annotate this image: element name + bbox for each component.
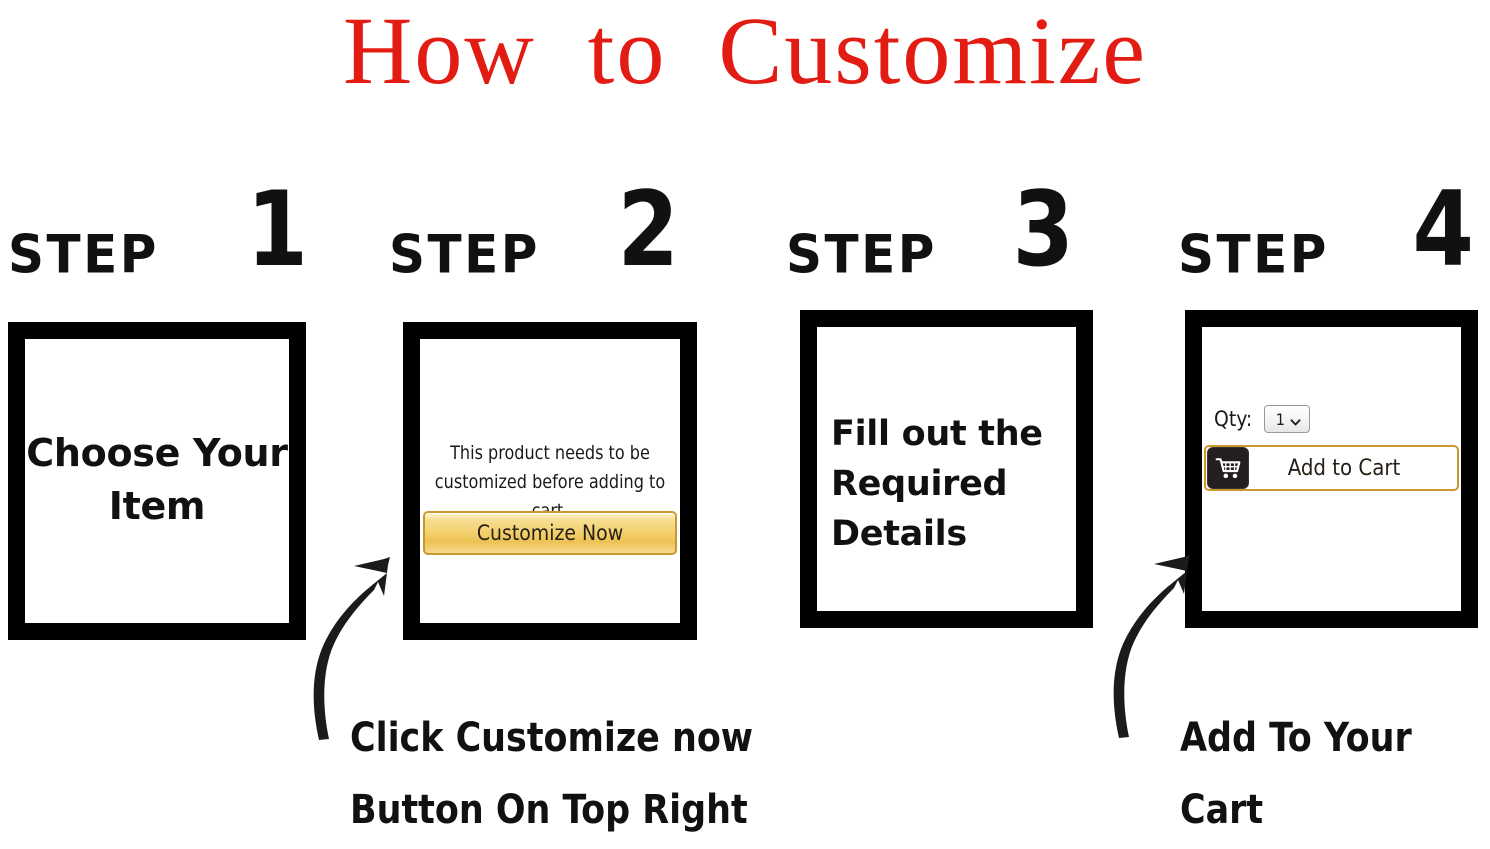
- step-number-2: 2: [618, 179, 679, 282]
- step-header-2: STEP 2: [389, 186, 679, 282]
- qty-label: Qty:: [1214, 407, 1252, 431]
- shopping-cart-icon: [1207, 447, 1249, 489]
- caption-step-4: Add To Your Cart: [1180, 702, 1412, 846]
- step-3-heading: Fill out the Required Details: [817, 409, 1076, 559]
- page-title: How to Customize: [0, 0, 1490, 106]
- qty-row: Qty: 1: [1214, 405, 1310, 433]
- add-to-cart-button[interactable]: Add to Cart: [1204, 445, 1459, 491]
- qty-value: 1: [1276, 410, 1285, 429]
- step-header-4: STEP 4: [1178, 186, 1474, 282]
- step-3-panel: Fill out the Required Details: [800, 310, 1093, 628]
- step-2-panel: This product needs to be customized befo…: [403, 322, 697, 640]
- step-1-heading: Choose Your Item: [25, 427, 289, 533]
- step-word-4: STEP: [1178, 227, 1329, 282]
- step-number-1: 1: [247, 179, 308, 282]
- step-word-1: STEP: [8, 227, 159, 282]
- step-word-2: STEP: [389, 227, 540, 282]
- qty-select[interactable]: 1: [1264, 405, 1310, 433]
- customize-now-label: Customize Now: [477, 521, 623, 545]
- add-to-cart-label: Add to Cart: [1249, 456, 1457, 481]
- caption-step-2: Click Customize now Button On Top Right: [350, 702, 753, 846]
- customize-now-button[interactable]: Customize Now: [423, 511, 677, 555]
- step-number-3: 3: [1013, 179, 1074, 282]
- step-number-4: 4: [1413, 179, 1474, 282]
- chevron-down-icon: [1290, 413, 1299, 422]
- step-word-3: STEP: [786, 227, 937, 282]
- step-3-heading-line-2: Required Details: [831, 459, 1076, 559]
- step-3-heading-line-1: Fill out the: [831, 409, 1076, 459]
- step-header-1: STEP 1: [8, 186, 308, 282]
- step-header-3: STEP 3: [786, 186, 1074, 282]
- step-1-panel: Choose Your Item: [8, 322, 306, 640]
- customize-notice-line-1: This product needs to be: [432, 439, 669, 468]
- step-4-panel: Qty: 1 Add to Cart: [1185, 310, 1478, 628]
- step-1-heading-line-2: Item: [25, 480, 289, 533]
- step-1-heading-line-1: Choose Your: [25, 427, 289, 480]
